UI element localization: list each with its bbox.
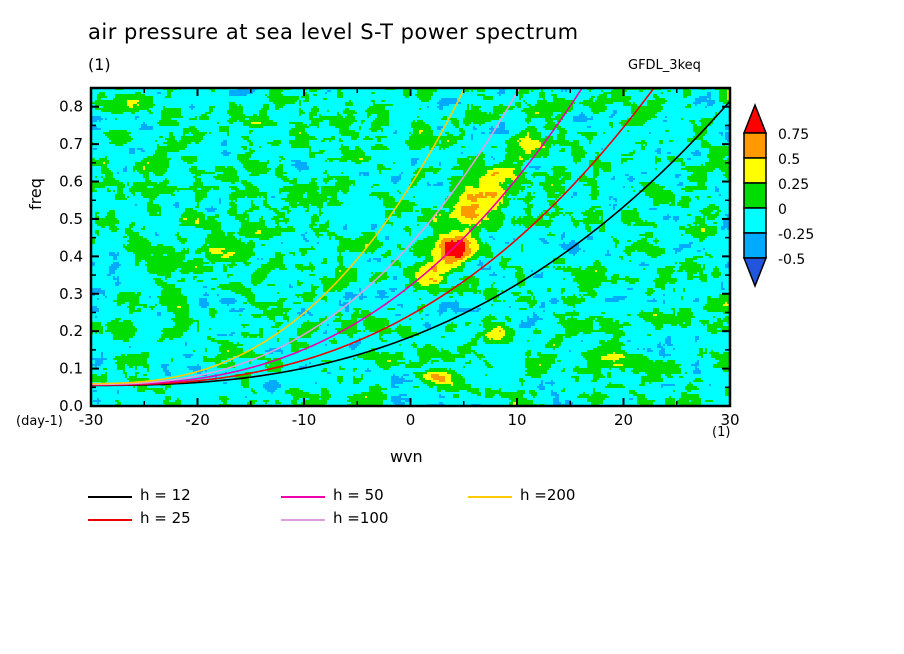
legend-label: h = 25 (140, 509, 191, 527)
colorbar-tick-label: -0.25 (778, 227, 814, 243)
spectrum-plot: -30-20-1001020300.00.10.20.30.40.50.60.7… (0, 0, 904, 654)
legend-line-swatch (88, 496, 132, 498)
legend-line-swatch (468, 496, 512, 498)
colorbar-tick-label: 0.75 (778, 127, 809, 143)
legend-label: h =200 (520, 486, 575, 504)
x-axis-unit: (1) (712, 425, 730, 440)
colorbar-tick-label: -0.5 (778, 252, 805, 268)
legend-label: h =100 (333, 509, 388, 527)
legend-line-swatch (281, 519, 325, 521)
legend-line-swatch (281, 496, 325, 498)
legend-label: h = 50 (333, 486, 384, 504)
colorbar: 0.750.50.250-0.25-0.5 (744, 105, 814, 286)
figure-canvas: air pressure at sea level S-T power spec… (0, 0, 904, 654)
y-axis-label: freq (26, 178, 45, 210)
legend-label: h = 12 (140, 486, 191, 504)
x-axis-label: wvn (390, 447, 423, 466)
colorbar-tick-label: 0 (778, 202, 787, 218)
colorbar-tick-label: 0.25 (778, 177, 809, 193)
colorbar-tick-label: 0.5 (778, 152, 800, 168)
y-axis-unit: (day-1) (16, 414, 63, 429)
legend-line-swatch (88, 519, 132, 521)
